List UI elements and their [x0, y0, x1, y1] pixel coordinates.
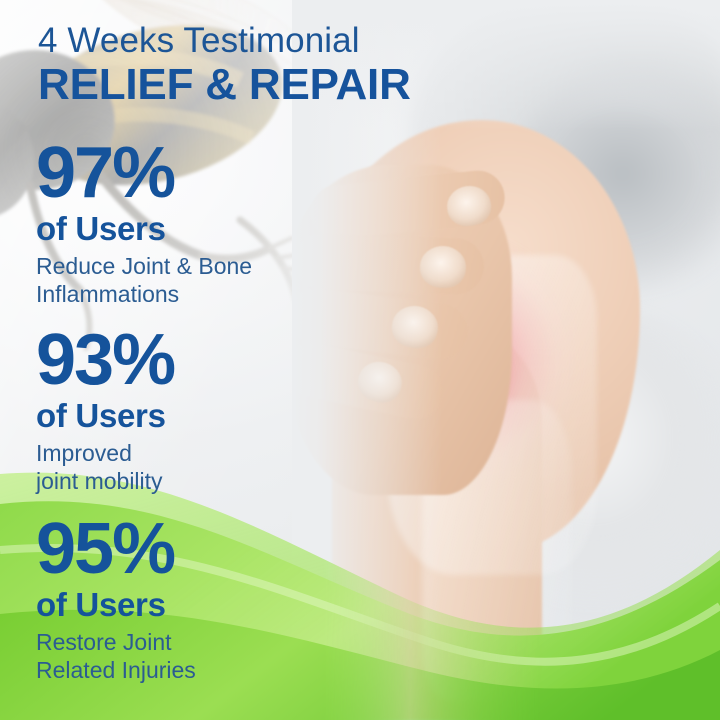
stat-description: Restore Joint Related Injuries [36, 628, 196, 684]
stat-description-line-1: Restore Joint [36, 628, 196, 656]
headline: 4 Weeks Testimonial RELIEF & REPAIR [38, 22, 411, 108]
stat-users-label: of Users [36, 212, 252, 245]
stat-description-line-1: Reduce Joint & Bone [36, 252, 252, 280]
stat-description-line-1: Improved [36, 439, 174, 467]
stat-block-95: 95% of Users Restore Joint Related Injur… [36, 516, 196, 684]
stat-users-label: of Users [36, 588, 196, 621]
poster-content: 4 Weeks Testimonial RELIEF & REPAIR 97% … [0, 0, 720, 720]
stat-description: Improved joint mobility [36, 439, 174, 495]
stat-description-line-2: joint mobility [36, 467, 174, 495]
stat-block-97: 97% of Users Reduce Joint & Bone Inflamm… [36, 140, 252, 308]
stat-percent: 93% [36, 327, 174, 395]
stat-percent: 97% [36, 140, 252, 208]
stat-description-line-2: Inflammations [36, 280, 252, 308]
stat-description-line-2: Related Injuries [36, 656, 196, 684]
testimonial-poster: 4 Weeks Testimonial RELIEF & REPAIR 97% … [0, 0, 720, 720]
headline-line-2: RELIEF & REPAIR [38, 62, 411, 108]
stat-users-label: of Users [36, 399, 174, 432]
headline-line-1: 4 Weeks Testimonial [38, 22, 411, 60]
stat-description: Reduce Joint & Bone Inflammations [36, 252, 252, 308]
stat-percent: 95% [36, 516, 196, 584]
stat-block-93: 93% of Users Improved joint mobility [36, 327, 174, 495]
